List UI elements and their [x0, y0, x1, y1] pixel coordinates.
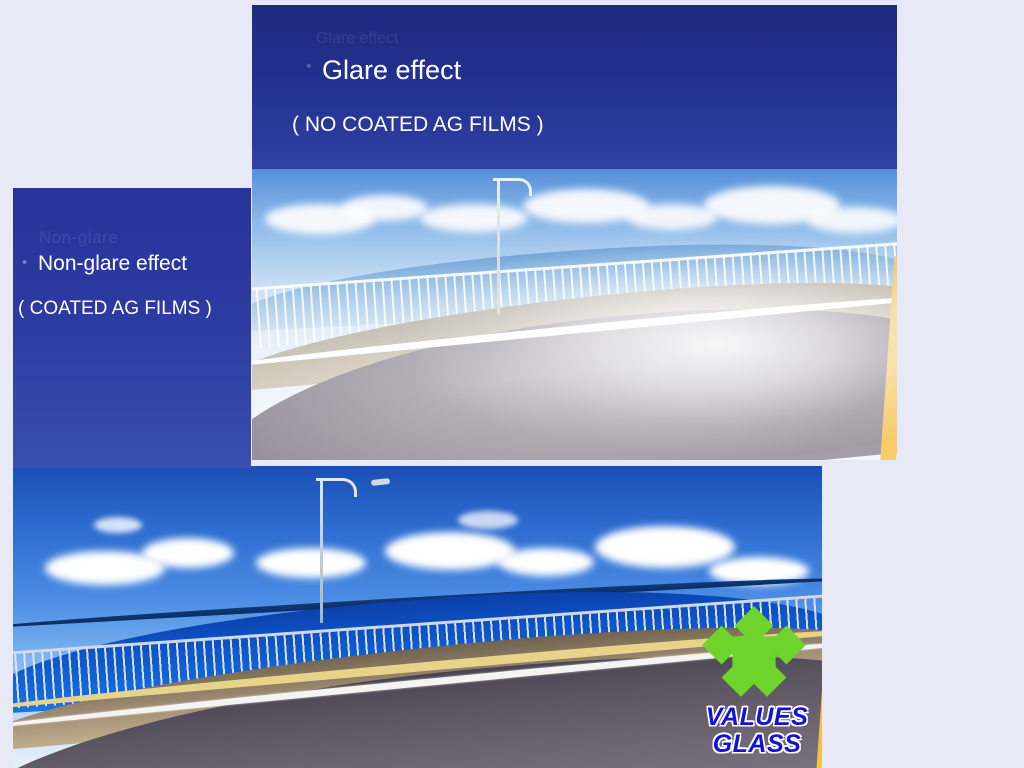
- logo-brand-text: VALUES GLASS: [692, 704, 822, 758]
- street-lamp-arm: [493, 178, 532, 196]
- cloud: [342, 195, 428, 221]
- ghost-text-top: Glare effect: [316, 30, 398, 48]
- diamond-mark-svg: [700, 604, 808, 712]
- non-glare-effect-title: Non-glare effect: [38, 252, 187, 276]
- bullet-mark-left: •: [22, 254, 27, 271]
- values-glass-logo: VALUES GLASS: [692, 604, 822, 768]
- cloud: [420, 204, 528, 232]
- bullet-mark-top: •: [306, 58, 312, 76]
- non-glare-effect-subtitle: ( COATED AG FILMS ): [18, 298, 212, 320]
- street-lamp-arm: [316, 478, 357, 497]
- cloud: [256, 548, 366, 578]
- street-lamp-pole: [320, 481, 323, 623]
- ghost-text-left: Non-glare: [39, 228, 118, 248]
- glare-photo-inner: [252, 169, 897, 460]
- logo-brand-line1: VALUES: [692, 704, 822, 731]
- cloud: [807, 207, 897, 233]
- cloud: [498, 548, 594, 576]
- slide-canvas: Non-glare Glare effect • Glare effect ( …: [0, 0, 1024, 768]
- logo-brand-line2: GLASS: [692, 731, 822, 758]
- values-glass-diamond-icon: [700, 604, 808, 712]
- glare-effect-subtitle: ( NO COATED AG FILMS ): [292, 113, 544, 137]
- street-lamp-pole: [497, 180, 500, 314]
- glare-effect-title: Glare effect: [322, 55, 461, 86]
- caption-backdrop-left: Non-glare: [13, 188, 251, 468]
